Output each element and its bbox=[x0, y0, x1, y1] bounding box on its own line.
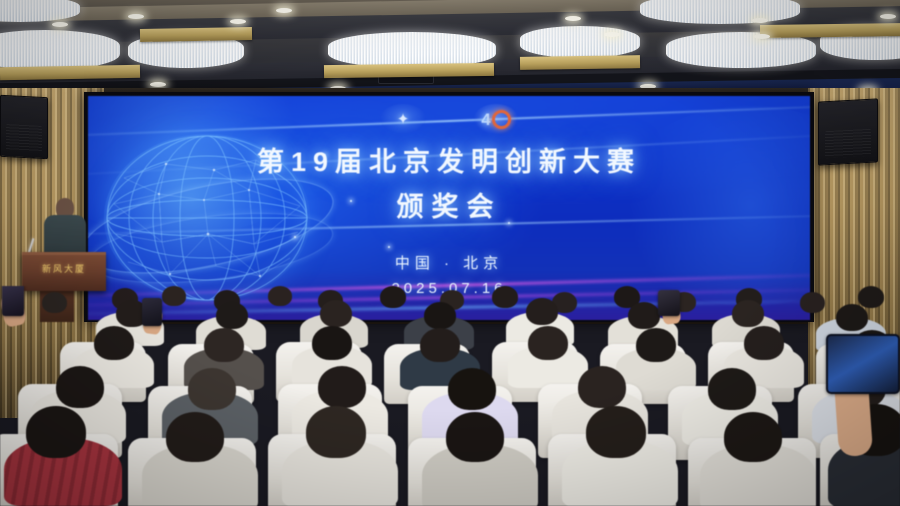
ceiling-gold-trim bbox=[760, 23, 900, 38]
chandelier-panel bbox=[520, 26, 640, 58]
podium-label: 新风大厦 bbox=[22, 262, 106, 275]
ceiling-spotlight bbox=[754, 34, 770, 39]
ceiling-gold-trim bbox=[520, 55, 640, 70]
pa-speaker-left bbox=[0, 95, 48, 160]
audience-head bbox=[744, 326, 784, 360]
event-title-line2: 颁奖会 bbox=[88, 185, 810, 224]
audience-head bbox=[636, 328, 676, 362]
audience-area bbox=[0, 286, 900, 506]
recording-phone bbox=[142, 298, 162, 326]
ceiling-spotlight bbox=[276, 8, 292, 13]
audience-head bbox=[216, 302, 248, 329]
audience-head bbox=[586, 406, 646, 458]
ceiling-gold-trim bbox=[0, 65, 140, 80]
audience-head bbox=[94, 326, 134, 360]
ceiling-spotlight bbox=[880, 14, 896, 19]
ceiling-spotlight bbox=[150, 82, 166, 87]
audience-head bbox=[188, 368, 236, 410]
ceiling-spotlight bbox=[565, 16, 581, 21]
screen-logo-row: ✦ 4 bbox=[88, 104, 810, 134]
audience-head bbox=[380, 286, 406, 308]
audience-head bbox=[448, 368, 496, 410]
anniversary-ring-icon bbox=[492, 110, 511, 129]
chandelier-panel bbox=[640, 0, 800, 24]
audience-head bbox=[26, 406, 86, 458]
audience-head bbox=[708, 368, 756, 410]
audience-head bbox=[42, 292, 67, 313]
ceiling-spotlight bbox=[230, 19, 246, 24]
audience-head bbox=[578, 366, 626, 408]
event-location: 中国 · 北京 bbox=[88, 252, 810, 273]
audience-head bbox=[306, 406, 366, 458]
audience-head bbox=[446, 412, 504, 462]
anniversary-digit: 4 bbox=[481, 111, 490, 128]
audience-head bbox=[424, 302, 456, 329]
recording-phone bbox=[2, 286, 24, 316]
event-title-line1: 第19届北京发明创新大赛 bbox=[88, 140, 810, 179]
conference-hall-photo: ✦ 4 第19届北京发明创新大赛 颁奖会 中国 · 北京 2025.07.16 … bbox=[0, 0, 900, 506]
ceiling-gold-trim bbox=[140, 27, 252, 42]
recording-tablet bbox=[826, 334, 900, 394]
audience-head bbox=[492, 286, 518, 308]
audience-head bbox=[162, 286, 186, 306]
audience-head bbox=[858, 286, 884, 308]
audience-head bbox=[204, 328, 244, 362]
audience-head bbox=[268, 286, 292, 306]
audience-head bbox=[312, 326, 352, 360]
recording-phone bbox=[658, 290, 680, 316]
audience-head bbox=[318, 366, 366, 408]
audience-head bbox=[836, 304, 868, 331]
audience-head bbox=[56, 366, 104, 408]
association-emblem-icon: ✦ bbox=[380, 104, 426, 134]
ceiling-spotlight bbox=[128, 14, 144, 19]
ceiling-spotlight bbox=[752, 18, 768, 23]
ceiling-gold-trim bbox=[324, 63, 494, 78]
audience-head bbox=[628, 302, 660, 329]
audience-head bbox=[166, 412, 224, 462]
ceiling-spotlight bbox=[604, 32, 620, 37]
audience-head bbox=[420, 328, 460, 362]
pa-speaker-right bbox=[818, 98, 878, 165]
chandelier-panel bbox=[0, 30, 120, 70]
ceiling bbox=[0, 0, 900, 96]
audience-head bbox=[320, 300, 352, 327]
emblem-star-glyph: ✦ bbox=[397, 112, 410, 127]
audience-head bbox=[528, 326, 568, 360]
audience-head bbox=[724, 412, 782, 462]
audience-head bbox=[732, 300, 764, 327]
screen-text-block: 第19届北京发明创新大赛 颁奖会 中国 · 北京 2025.07.16 bbox=[88, 140, 810, 297]
audience-head bbox=[526, 298, 558, 325]
ceiling-spotlight bbox=[52, 22, 68, 27]
audience-head bbox=[800, 292, 825, 313]
anniversary-40-icon: 4 bbox=[474, 104, 518, 134]
